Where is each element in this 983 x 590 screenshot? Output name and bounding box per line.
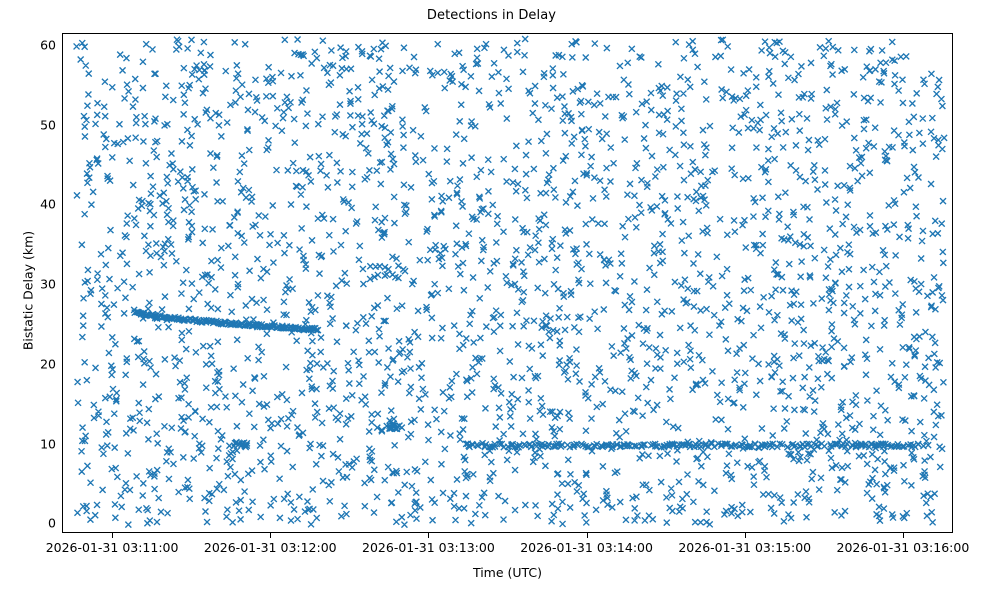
x-tick-mark	[428, 533, 429, 538]
page-title: Detections in Delay	[0, 8, 983, 23]
x-tick-label: 2026-01-31 03:13:00	[362, 540, 495, 555]
y-axis-label: Bistatic Delay (km)	[21, 171, 36, 411]
y-tick-label: 0	[8, 516, 56, 531]
x-tick-label: 2026-01-31 03:12:00	[204, 540, 337, 555]
x-tick-label: 2026-01-31 03:15:00	[678, 540, 811, 555]
x-tick-label: 2026-01-31 03:11:00	[46, 540, 179, 555]
x-tick-label: 2026-01-31 03:16:00	[837, 540, 970, 555]
y-tick-label: 10	[8, 436, 56, 451]
matplotlib-figure: Detections in Delay 0102030405060 2026-0…	[0, 0, 983, 590]
y-tick-mark	[62, 126, 63, 127]
plot-axes	[62, 33, 953, 533]
scatter-marker-path	[74, 36, 948, 528]
y-tick-mark	[62, 445, 63, 446]
y-tick-mark	[62, 524, 63, 525]
y-tick-mark	[62, 205, 63, 206]
x-tick-mark	[587, 533, 588, 538]
scatter-points-layer	[63, 34, 952, 532]
x-tick-mark	[903, 533, 904, 538]
x-tick-mark	[745, 533, 746, 538]
x-axis-label: Time (UTC)	[62, 565, 953, 580]
y-tick-mark	[62, 46, 63, 47]
y-tick-mark	[62, 365, 63, 366]
y-tick-label: 50	[8, 117, 56, 132]
y-tick-mark	[62, 285, 63, 286]
x-tick-mark	[112, 533, 113, 538]
x-tick-mark	[270, 533, 271, 538]
y-tick-label: 60	[8, 37, 56, 52]
x-tick-label: 2026-01-31 03:14:00	[520, 540, 653, 555]
